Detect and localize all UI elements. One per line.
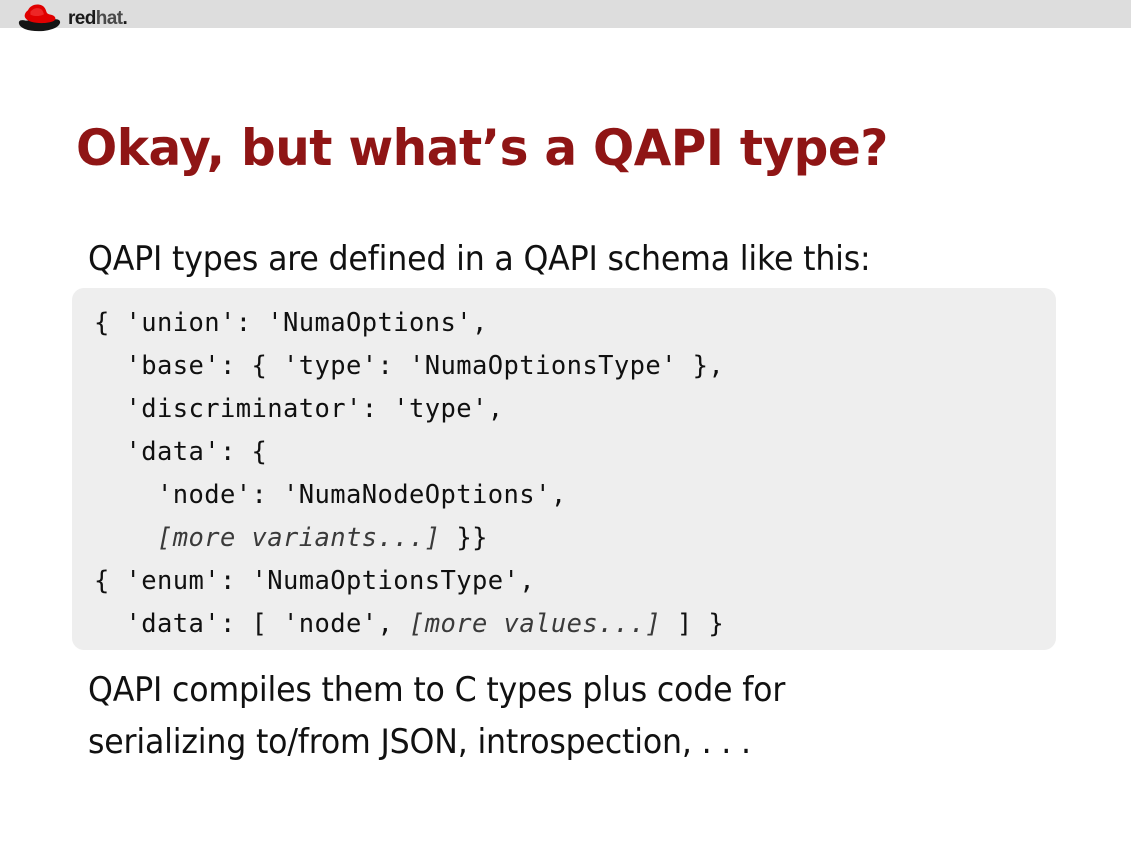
lead-paragraph: QAPI types are defined in a QAPI schema … <box>88 240 999 279</box>
code-line: 'node': 'NumaNodeOptions', <box>94 474 1036 517</box>
code-line: 'discriminator': 'type', <box>94 388 1036 431</box>
redhat-brand: redhat. <box>16 0 127 34</box>
page-title: Okay, but what’s a QAPI type? <box>76 122 1046 175</box>
code-line: { 'union': 'NumaOptions', <box>94 302 1036 345</box>
code-text <box>94 523 157 553</box>
closing-line-1: QAPI compiles them to C types plus code … <box>88 664 999 716</box>
code-placeholder-text: [more variants...] <box>157 523 441 553</box>
code-line: { 'enum': 'NumaOptionsType', <box>94 560 1036 603</box>
code-line: 'data': [ 'node', [more values...] ] } <box>94 603 1036 646</box>
code-line: [more variants...] }} <box>94 517 1036 560</box>
brand-hat-text: hat <box>96 8 123 29</box>
code-text: 'data': [ 'node', <box>94 609 409 639</box>
header-bar <box>0 0 1131 28</box>
code-text: }} <box>441 523 488 553</box>
closing-line-2: serializing to/from JSON, introspection,… <box>88 716 999 768</box>
brand-red-text: red <box>68 8 96 29</box>
brand-dot: . <box>122 8 127 29</box>
code-line: 'base': { 'type': 'NumaOptionsType' }, <box>94 345 1036 388</box>
code-line: 'data': { <box>94 431 1036 474</box>
slide-canvas: Okay, but what’s a QAPI type? QAPI types… <box>0 28 1131 848</box>
redhat-shadowman-fedora-icon <box>16 2 64 32</box>
code-text: ] } <box>661 609 724 639</box>
closing-paragraph: QAPI compiles them to C types plus code … <box>88 664 999 768</box>
brand-wordmark: redhat. <box>68 9 127 28</box>
code-block: { 'union': 'NumaOptions', 'base': { 'typ… <box>72 288 1056 650</box>
code-placeholder-text: [more values...] <box>409 609 661 639</box>
